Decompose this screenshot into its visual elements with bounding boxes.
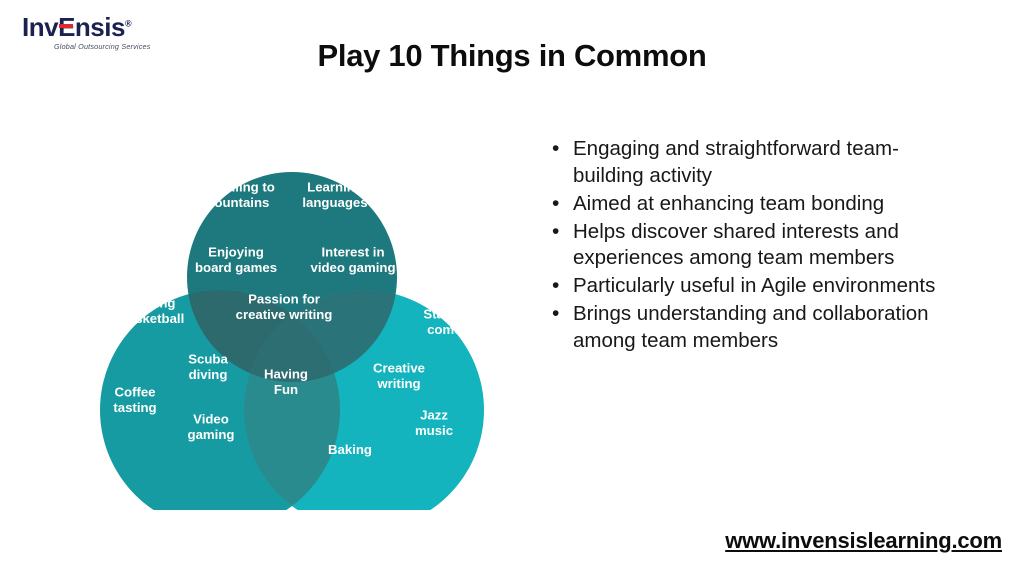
venn-item-playing-basketball: Playingbasketball [120,296,185,327]
venn-overlap-passion-for-creative-writing: Passion forcreative writing [236,292,333,323]
page-title: Play 10 Things in Common [0,38,1024,74]
benefit-item-4: Particularly useful in Agile environment… [545,273,965,300]
venn-item-video-gaming: Videogaming [188,412,235,443]
venn-item-jazz-music: Jazzmusic [415,408,453,439]
venn-item-learning-languages: Learninglanguages [302,180,367,211]
benefit-item-2: Aimed at enhancing team bonding [545,191,965,218]
venn-diagram: WebdevelopmentYogaTravelling tomountains… [56,80,556,510]
benefit-item-5: Brings understanding and collaboration a… [545,301,965,355]
venn-item-baking: Baking [328,442,372,457]
venn-item-creative-writing: Creativewriting [373,361,425,392]
benefit-item-1: Engaging and straightforward team-buildi… [545,136,965,190]
venn-item-web-development: Webdevelopment [277,114,359,145]
venn-item-scuba-diving: Scubadiving [188,352,228,383]
venn-overlap-interest-in-video-gaming: Interest invideo gaming [311,245,396,276]
logo-letter-e: E [58,14,75,40]
venn-item-travelling-to-mountains: Travelling tomountains [197,180,275,211]
venn-item-stand-up-comedy: Stand-upcomedy [423,307,480,338]
benefits-list: Engaging and straightforward team-buildi… [545,136,965,356]
venn-item-yoga: Yoga [216,149,248,164]
logo-red-bar-icon [59,24,73,28]
logo-wordmark: InvEnsis® [22,14,131,40]
venn-item-coffee-tasting: Coffeetasting [113,385,156,416]
benefit-item-3: Helps discover shared interests and expe… [545,219,965,273]
logo-registered-mark: ® [125,18,131,28]
website-url[interactable]: www.invensislearning.com [725,528,1002,554]
